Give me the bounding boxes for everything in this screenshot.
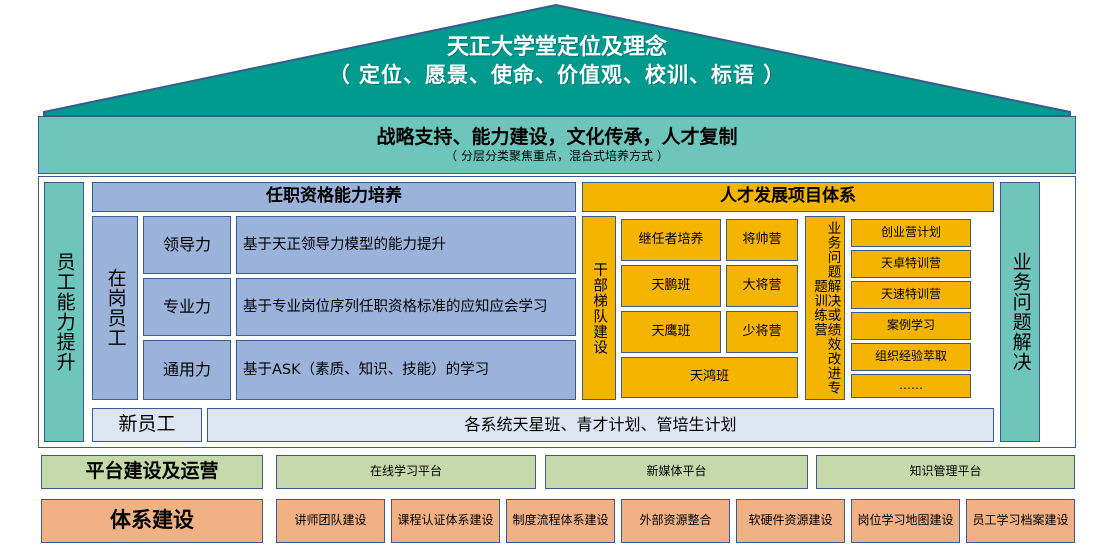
- platform-item-label-0: 在线学习平台: [370, 465, 442, 478]
- platform-item-0: 在线学习平台: [276, 455, 536, 489]
- platform-row-label-text: 平台建设及运营: [85, 461, 218, 482]
- cadre-echelon-group: 干部梯队建设: [582, 216, 616, 400]
- system-item-label-2: 制度流程体系建设: [512, 514, 608, 527]
- strategy-band: 战略支持、能力建设，文化传承，人才复制 （ 分层分类聚焦重点，混合式培养方式 ）: [38, 116, 1076, 174]
- problem-item-0: 创业营计划: [851, 219, 971, 247]
- cadre-item-col1-label-0: 继任者培养: [638, 233, 703, 248]
- ability-label-1: 专业力: [163, 298, 211, 316]
- newcomer-label: 新员工: [118, 414, 175, 435]
- system-item-0: 讲师团队建设: [276, 499, 385, 543]
- problem-item-label-4: 组织经验萃取: [875, 350, 947, 363]
- qualification-section-title: 任职资格能力培养: [92, 182, 576, 212]
- cadre-item-col1-label-1: 天鹏班: [651, 279, 690, 294]
- roof-title: 天正大学堂定位及理念 （ 定位、愿景、使命、价值观、校训、标语 ）: [150, 34, 964, 89]
- problem-training-group: 业务问题解决或绩效改进专题训练营: [805, 216, 845, 400]
- problem-item-label-2: 天速特训营: [881, 288, 941, 301]
- talent-title-text: 人才发展项目体系: [720, 187, 856, 206]
- system-item-label-5: 岗位学习地图建设: [857, 514, 953, 527]
- system-item-3: 外部资源整合: [621, 499, 730, 543]
- newcomer-desc-box: 各系统天星班、青才计划、管培生计划: [207, 408, 994, 442]
- system-item-label-6: 员工学习档案建设: [972, 514, 1068, 527]
- ability-cell-2: 通用力: [143, 340, 231, 400]
- problem-item-1: 天卓特训营: [851, 250, 971, 278]
- problem-item-label-0: 创业营计划: [881, 226, 941, 239]
- right-pillar-label: 业务问题解决: [1009, 252, 1030, 372]
- problem-training-label: 业务问题解决或绩效改进专题训练营: [812, 217, 839, 399]
- system-item-label-1: 课程认证体系建设: [397, 514, 493, 527]
- ability-cell-1: 专业力: [143, 278, 231, 336]
- problem-item-4: 组织经验萃取: [851, 343, 971, 371]
- system-item-6: 员工学习档案建设: [966, 499, 1075, 543]
- system-item-4: 软硬件资源建设: [736, 499, 845, 543]
- ability-desc-0: 基于天正领导力模型的能力提升: [236, 216, 576, 274]
- cadre-item-col1-2: 天鹰班: [621, 311, 721, 353]
- ability-label-2: 通用力: [163, 361, 211, 379]
- problem-item-5: ……: [851, 374, 971, 398]
- cadre-item-col2-2: 少将营: [726, 311, 798, 353]
- cadre-item-col2-1: 大将营: [726, 265, 798, 307]
- cadre-item-col2-label-0: 将帅营: [742, 233, 781, 248]
- system-item-label-3: 外部资源整合: [639, 514, 711, 527]
- roof-title-line1: 天正大学堂定位及理念: [150, 34, 964, 62]
- roof-title-line2: （ 定位、愿景、使命、价值观、校训、标语 ）: [150, 62, 964, 89]
- system-row-label: 体系建设: [41, 499, 263, 543]
- system-item-2: 制度流程体系建设: [506, 499, 615, 543]
- platform-item-2: 知识管理平台: [816, 455, 1075, 489]
- problem-item-label-3: 案例学习: [887, 319, 935, 332]
- ability-desc-1: 基于专业岗位序列任职资格标准的应知应会学习: [236, 278, 576, 336]
- system-item-label-0: 讲师团队建设: [294, 514, 366, 527]
- platform-item-label-1: 新媒体平台: [646, 465, 706, 478]
- qualification-title-text: 任职资格能力培养: [266, 187, 402, 206]
- problem-item-3: 案例学习: [851, 312, 971, 340]
- cadre-item-col1-0: 继任者培养: [621, 219, 721, 261]
- left-pillar-label: 员工能力提升: [53, 252, 74, 372]
- newcomer-label-box: 新员工: [92, 408, 202, 442]
- diagram-canvas: 天正大学堂定位及理念 （ 定位、愿景、使命、价值观、校训、标语 ） 战略支持、能…: [0, 0, 1114, 551]
- ability-label-0: 领导力: [163, 236, 211, 254]
- problem-item-label-1: 天卓特训营: [881, 257, 941, 270]
- ability-desc-text-1: 基于专业岗位序列任职资格标准的应知应会学习: [243, 299, 548, 315]
- platform-item-1: 新媒体平台: [545, 455, 808, 489]
- talent-section-title: 人才发展项目体系: [582, 182, 994, 212]
- cadre-item-col2-0: 将帅营: [726, 219, 798, 261]
- ability-cell-0: 领导力: [143, 216, 231, 274]
- left-pillar-employee-capability: 员工能力提升: [44, 182, 84, 442]
- on-job-employee-label: 在岗员工: [104, 268, 125, 348]
- cadre-item-wide-label: 天鸿班: [690, 370, 729, 385]
- platform-item-label-2: 知识管理平台: [909, 465, 981, 478]
- ability-desc-2: 基于ASK（素质、知识、技能）的学习: [236, 340, 576, 400]
- system-item-5: 岗位学习地图建设: [851, 499, 960, 543]
- ability-desc-text-0: 基于天正领导力模型的能力提升: [243, 237, 446, 253]
- strategy-band-main: 战略支持、能力建设，文化传承，人才复制: [376, 127, 737, 148]
- problem-item-label-5: ……: [899, 379, 923, 392]
- system-row-label-text: 体系建设: [110, 509, 194, 533]
- problem-item-2: 天速特训营: [851, 281, 971, 309]
- platform-row-label: 平台建设及运营: [41, 455, 263, 489]
- cadre-item-wide: 天鸿班: [621, 357, 798, 398]
- cadre-item-col2-label-2: 少将营: [742, 325, 781, 340]
- newcomer-desc-text: 各系统天星班、青才计划、管培生计划: [464, 416, 736, 434]
- system-item-label-4: 软硬件资源建设: [748, 514, 832, 527]
- system-item-1: 课程认证体系建设: [391, 499, 500, 543]
- cadre-item-col1-label-2: 天鹰班: [651, 325, 690, 340]
- on-job-employee-group: 在岗员工: [92, 216, 138, 400]
- cadre-echelon-label: 干部梯队建设: [591, 262, 607, 355]
- strategy-band-sub: （ 分层分类聚焦重点，混合式培养方式 ）: [445, 150, 669, 163]
- cadre-item-col1-1: 天鹏班: [621, 265, 721, 307]
- right-pillar-business-problem: 业务问题解决: [1000, 182, 1040, 442]
- cadre-item-col2-label-1: 大将营: [742, 279, 781, 294]
- ability-desc-text-2: 基于ASK（素质、知识、技能）的学习: [243, 362, 489, 378]
